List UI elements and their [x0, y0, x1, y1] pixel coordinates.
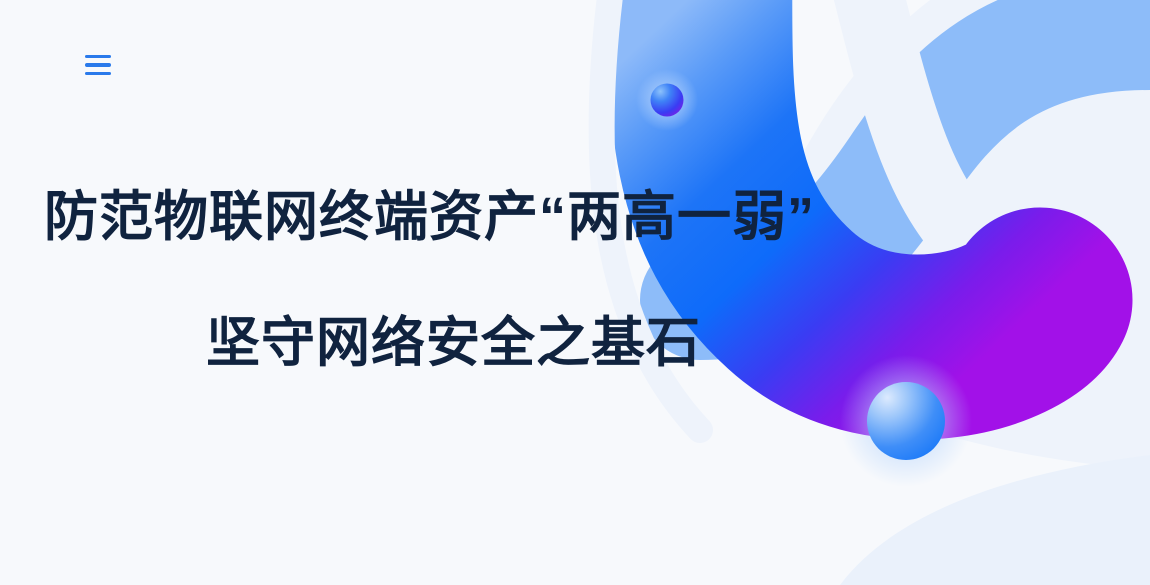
slide-title-line-2: 坚守网络安全之基石 [0, 316, 880, 370]
small-gradient-sphere [651, 84, 684, 117]
hamburger-menu-icon-bar-3 [85, 72, 111, 76]
hamburger-menu-icon-bar-1 [85, 55, 111, 59]
slide-title-block: 防范物联网终端资产“两高一弱” 坚守网络安全之基石 [0, 190, 880, 370]
large-gradient-sphere [867, 382, 945, 460]
slide-canvas: 防范物联网终端资产“两高一弱” 坚守网络安全之基石 [0, 0, 1150, 585]
hamburger-menu-icon-bar-2 [85, 63, 111, 67]
slide-title-line-1: 防范物联网终端资产“两高一弱” [0, 190, 880, 244]
hamburger-menu-button[interactable] [85, 52, 111, 78]
